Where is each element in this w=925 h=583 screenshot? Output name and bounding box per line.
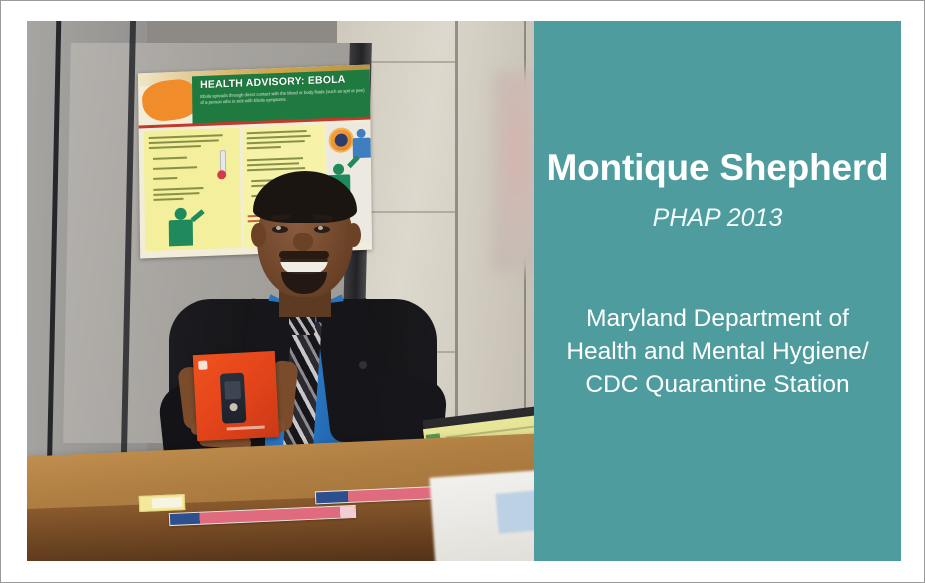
desk-blue-paper — [495, 488, 534, 534]
profile-card: HEALTH ADVISORY: EBOLA Ebola spreads thr… — [0, 0, 925, 583]
box-product-window — [220, 373, 247, 424]
person-name: Montique Shepherd — [534, 149, 901, 188]
globe-icon — [329, 127, 354, 153]
box-text-line — [227, 426, 265, 431]
affiliation-line-3: CDC Quarantine Station — [534, 368, 901, 401]
globe-inner — [335, 133, 348, 147]
poster-subtitle: Ebola spreads through direct contact wit… — [200, 88, 365, 106]
affiliation: Maryland Department of Health and Mental… — [534, 302, 901, 401]
ear-right — [346, 223, 361, 247]
affiliation-line-1: Maryland Department of — [534, 302, 901, 335]
poster-green-banner: HEALTH ADVISORY: EBOLA Ebola spreads thr… — [192, 70, 370, 125]
orange-product-box — [193, 351, 279, 441]
nose — [293, 233, 313, 251]
info-panel: Montique Shepherd PHAP 2013 Maryland Dep… — [534, 21, 901, 561]
person-figure-blue-icon — [357, 129, 366, 138]
profile-photo: HEALTH ADVISORY: EBOLA Ebola spreads thr… — [27, 21, 534, 561]
person-figure-arm — [347, 155, 360, 168]
device-screen — [224, 381, 241, 400]
box-logo — [198, 360, 207, 369]
mustache — [279, 251, 329, 259]
hair — [253, 171, 357, 223]
eye-highlight-right — [318, 226, 323, 230]
device-button — [229, 403, 237, 411]
background-blurred-object — [494, 71, 534, 271]
ear-left — [251, 223, 266, 247]
eye-highlight-left — [276, 226, 281, 230]
program-year: PHAP 2013 — [534, 204, 901, 233]
desk-yellow-label — [139, 494, 186, 512]
jacket-button — [359, 361, 367, 369]
wall-seam — [357, 61, 457, 63]
affiliation-line-2: Health and Mental Hygiene/ — [534, 335, 901, 368]
